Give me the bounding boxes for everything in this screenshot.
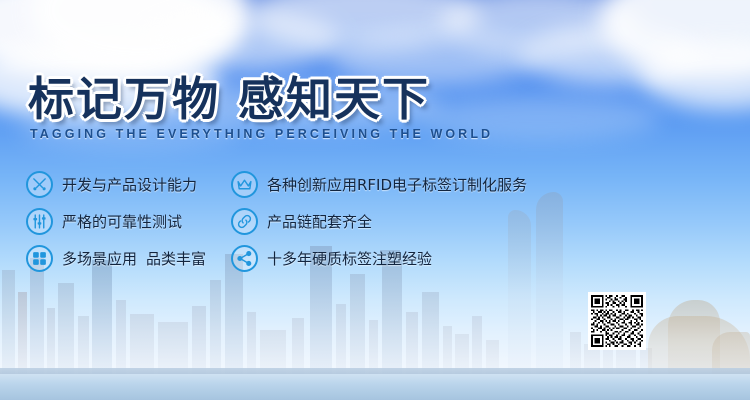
feature-item-reliability-testing: 严格的可靠性测试 [26, 203, 231, 240]
share-icon [231, 245, 258, 272]
feature-column-right: 十多年硬质标签注塑经验 [231, 240, 586, 277]
feature-item-multi-scene-applications: 多场景应用品类丰富 [26, 240, 231, 277]
feature-label: 产品链配套齐全 [267, 211, 372, 232]
feature-row: 开发与产品设计能力 各种创新应用RFID电子标签订制化服务 [26, 166, 586, 203]
feature-column-right: 各种创新应用RFID电子标签订制化服务 [231, 166, 586, 203]
feature-label: 十多年硬质标签注塑经验 [267, 248, 432, 269]
feature-row: 严格的可靠性测试 产品链配套齐全 [26, 203, 586, 240]
headline-part-1: 标记万物 [28, 73, 220, 125]
feature-column-right: 产品链配套齐全 [231, 203, 586, 240]
headline-part-2: 感知天下 [238, 73, 430, 125]
feature-row: 多场景应用品类丰富 十多年硬质标签注塑经验 [26, 240, 586, 277]
page-subtitle: TAGGING THE EVERYTHING PERCEIVING THE WO… [30, 127, 493, 141]
feature-label-b: 品类丰富 [146, 250, 206, 268]
tools-icon [26, 171, 53, 198]
link-icon [231, 208, 258, 235]
feature-label: 各种创新应用RFID电子标签订制化服务 [267, 174, 527, 195]
feature-item-injection-molding-experience: 十多年硬质标签注塑经验 [231, 240, 586, 277]
feature-column-left: 严格的可靠性测试 [26, 203, 231, 240]
feature-column-left: 开发与产品设计能力 [26, 166, 231, 203]
feature-label: 开发与产品设计能力 [62, 174, 197, 195]
feature-label: 严格的可靠性测试 [62, 211, 182, 232]
promo-banner: 标记万物感知天下 TAGGING THE EVERYTHING PERCEIVI… [0, 0, 750, 400]
feature-column-left: 多场景应用品类丰富 [26, 240, 231, 277]
feature-label: 多场景应用品类丰富 [62, 248, 206, 269]
feature-item-rfid-custom-service: 各种创新应用RFID电子标签订制化服务 [231, 166, 586, 203]
feature-item-complete-product-chain: 产品链配套齐全 [231, 203, 586, 240]
qr-code-graphic [591, 295, 643, 347]
feature-item-design-capability: 开发与产品设计能力 [26, 166, 231, 203]
feature-label-a: 多场景应用 [62, 250, 137, 268]
page-title: 标记万物感知天下 [28, 76, 430, 122]
feature-list: 开发与产品设计能力 各种创新应用RFID电子标签订制化服务 [26, 166, 586, 277]
qr-code[interactable] [588, 292, 646, 350]
sliders-icon [26, 208, 53, 235]
water-strip [0, 374, 750, 400]
crown-icon [231, 171, 258, 198]
grid-icon [26, 245, 53, 272]
